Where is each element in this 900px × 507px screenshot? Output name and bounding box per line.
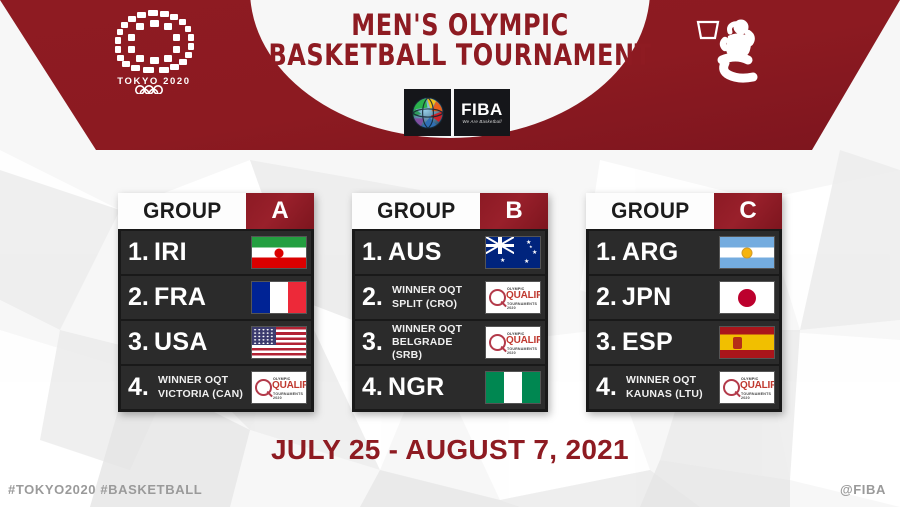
table-row[interactable]: 4.WINNER OQTKAUNAS (LTU)OLYMPICQUALIFYIN…: [589, 366, 779, 409]
flag-united-states: [251, 326, 307, 359]
oqt-ring-icon: [489, 289, 506, 306]
flag-argentina: [719, 236, 775, 269]
group-letter-text: A: [271, 197, 288, 225]
footer-handle: @FIBA: [840, 482, 886, 497]
team-placeholder: WINNER OQTVICTORIA (CAN): [150, 374, 251, 400]
group-letter-text: C: [739, 197, 756, 225]
footer-hashtags: #TOKYO2020 #BASKETBALL: [8, 482, 202, 497]
table-row[interactable]: 1.AUS★★★★★: [355, 231, 545, 274]
group-label-text: GROUP: [377, 198, 456, 224]
team-placeholder-line: WINNER OQT: [158, 374, 251, 387]
table-row[interactable]: 1.IRI: [121, 231, 311, 274]
rank-number: 3.: [362, 328, 384, 357]
flag-iran: [251, 236, 307, 269]
olympic-qualifying-tournament-logo: OLYMPICQUALIFYINGTOURNAMENTS 2020: [485, 281, 541, 314]
team-placeholder: WINNER OQTSPLIT (CRO): [384, 284, 485, 310]
fiba-wordmark-text: FIBA: [461, 101, 503, 118]
group-label-text: GROUP: [611, 198, 690, 224]
olympic-qualifying-tournament-logo: OLYMPICQUALIFYINGTOURNAMENTS 2020: [485, 326, 541, 359]
fiba-wordmark: FIBA We Are Basketball: [454, 89, 510, 136]
table-row[interactable]: 2.FRA: [121, 276, 311, 319]
team-code: NGR: [384, 373, 485, 402]
tokyo-2020-emblem: TOKYO 2020: [104, 8, 204, 94]
team-placeholder-line: KAUNAS (LTU): [626, 388, 719, 401]
team-code: USA: [150, 328, 251, 357]
team-code: ESP: [618, 328, 719, 357]
infographic-canvas: TOKYO 2020 MEN'S OLYMPIC BASKETBALL TOUR…: [0, 0, 900, 507]
flag-france: [251, 281, 307, 314]
page-title: MEN'S OLYMPIC BASKETBALL TOURNAMENT: [250, 10, 670, 70]
team-code: ARG: [618, 238, 719, 267]
group-letter: B: [480, 193, 548, 229]
team-placeholder-line: VICTORIA (CAN): [158, 388, 251, 401]
group-header: GROUPA: [118, 193, 314, 229]
flag-australia: ★★★★★: [485, 236, 541, 269]
rank-number: 3.: [596, 328, 618, 357]
group-card-a: GROUPA1.IRI2.FRA3.USA4.WINNER OQTVICTORI…: [118, 193, 314, 412]
team-placeholder-line: BELGRADE (SRB): [392, 336, 485, 362]
flag-nigeria: [485, 371, 541, 404]
fiba-logo: FIBA We Are Basketball: [404, 89, 510, 136]
rank-number: 4.: [128, 373, 150, 402]
table-row[interactable]: 3.ESP: [589, 321, 779, 364]
fiba-basketball-globe-icon: [404, 89, 451, 136]
group-body: 1.AUS★★★★★2.WINNER OQTSPLIT (CRO)OLYMPIC…: [352, 229, 548, 412]
team-placeholder-line: SPLIT (CRO): [392, 298, 485, 311]
title-line-1: MEN'S OLYMPIC: [267, 10, 653, 40]
table-row[interactable]: 2.WINNER OQTSPLIT (CRO)OLYMPICQUALIFYING…: [355, 276, 545, 319]
olympic-qualifying-tournament-logo: OLYMPICQUALIFYINGTOURNAMENTS 2020: [719, 371, 775, 404]
basketball-pictogram: [692, 10, 772, 88]
team-code: AUS: [384, 238, 485, 267]
olympic-qualifying-tournament-logo: OLYMPICQUALIFYINGTOURNAMENTS 2020: [251, 371, 307, 404]
team-placeholder: WINNER OQTBELGRADE (SRB): [384, 323, 485, 362]
group-letter: A: [246, 193, 314, 229]
rank-number: 1.: [596, 238, 618, 267]
team-placeholder-line: WINNER OQT: [626, 374, 719, 387]
group-header: GROUPB: [352, 193, 548, 229]
rank-number: 2.: [128, 283, 150, 312]
rank-number: 2.: [596, 283, 618, 312]
group-letter: C: [714, 193, 782, 229]
rank-number: 4.: [596, 373, 618, 402]
tournament-dates: JULY 25 - AUGUST 7, 2021: [0, 434, 900, 466]
table-row[interactable]: 1.ARG: [589, 231, 779, 274]
group-label: GROUP: [586, 193, 714, 229]
rank-number: 3.: [128, 328, 150, 357]
group-label: GROUP: [118, 193, 246, 229]
team-placeholder: WINNER OQTKAUNAS (LTU): [618, 374, 719, 400]
flag-japan: [719, 281, 775, 314]
team-code: IRI: [150, 238, 251, 267]
rank-number: 1.: [128, 238, 150, 267]
table-row[interactable]: 3.WINNER OQTBELGRADE (SRB)OLYMPICQUALIFY…: [355, 321, 545, 364]
flag-spain: [719, 326, 775, 359]
group-label-text: GROUP: [143, 198, 222, 224]
table-row[interactable]: 4.NGR: [355, 366, 545, 409]
rank-number: 1.: [362, 238, 384, 267]
group-letter-text: B: [505, 197, 522, 225]
group-card-b: GROUPB1.AUS★★★★★2.WINNER OQTSPLIT (CRO)O…: [352, 193, 548, 412]
table-row[interactable]: 3.USA: [121, 321, 311, 364]
table-row[interactable]: 2.JPN: [589, 276, 779, 319]
team-placeholder-line: WINNER OQT: [392, 284, 485, 297]
svg-text:TOKYO 2020: TOKYO 2020: [117, 76, 190, 87]
group-label: GROUP: [352, 193, 480, 229]
oqt-ring-icon: [489, 334, 506, 351]
group-body: 1.ARG2.JPN3.ESP4.WINNER OQTKAUNAS (LTU)O…: [586, 229, 782, 412]
table-row[interactable]: 4.WINNER OQTVICTORIA (CAN)OLYMPICQUALIFY…: [121, 366, 311, 409]
group-card-c: GROUPC1.ARG2.JPN3.ESP4.WINNER OQTKAUNAS …: [586, 193, 782, 412]
rank-number: 2.: [362, 283, 384, 312]
group-tables: GROUPA1.IRI2.FRA3.USA4.WINNER OQTVICTORI…: [0, 193, 900, 412]
fiba-tagline: We Are Basketball: [462, 120, 501, 124]
title-line-2: BASKETBALL TOURNAMENT: [267, 40, 653, 70]
oqt-ring-icon: [723, 379, 740, 396]
oqt-ring-icon: [255, 379, 272, 396]
team-code: JPN: [618, 283, 719, 312]
group-body: 1.IRI2.FRA3.USA4.WINNER OQTVICTORIA (CAN…: [118, 229, 314, 412]
team-code: FRA: [150, 283, 251, 312]
team-placeholder-line: WINNER OQT: [392, 323, 485, 336]
rank-number: 4.: [362, 373, 384, 402]
group-header: GROUPC: [586, 193, 782, 229]
